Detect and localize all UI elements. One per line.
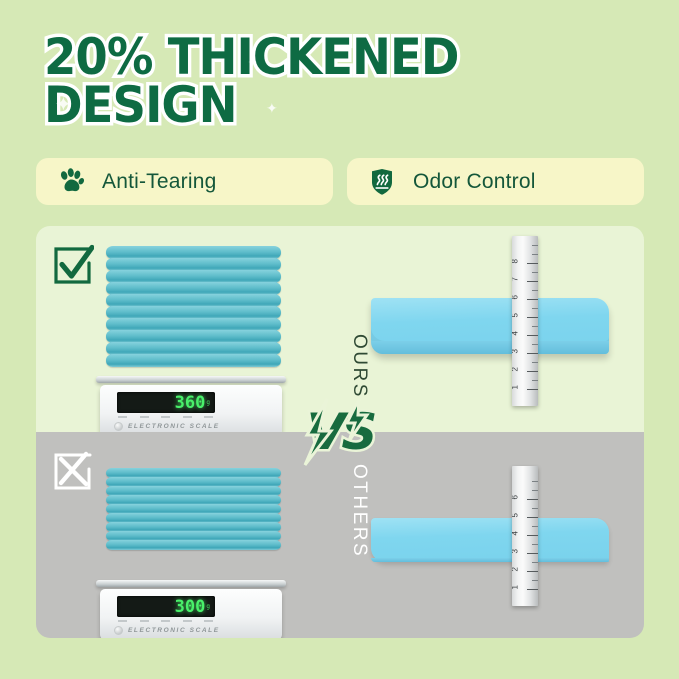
- badge-label: Odor Control: [413, 170, 536, 194]
- pad-stack-others: [106, 468, 281, 549]
- scale-unit: g: [206, 604, 210, 610]
- pad-sample-ours: 1 2 3 4 5 6 7 8: [371, 298, 609, 354]
- pad-layer: [106, 540, 281, 550]
- scale-platform: [96, 580, 286, 587]
- scale-brand-label: ELECTRONIC SCALE: [128, 423, 220, 430]
- pad-edge: [371, 558, 609, 562]
- pad-thin: [371, 518, 609, 562]
- badge-label: Anti-Tearing: [102, 170, 216, 194]
- scale-platform: [96, 376, 286, 383]
- scale-brand-label: ELECTRONIC SCALE: [128, 627, 220, 634]
- odor-shield-icon: [369, 168, 395, 196]
- scale-others: 300 g ELECTRONIC SCALE: [100, 580, 282, 638]
- cross-mark-icon: [52, 450, 94, 492]
- comparison-section: 360 g ELECTRONIC SCALE OURS 1 2 3 4: [36, 226, 644, 638]
- scale-body: 360 g ELECTRONIC SCALE: [100, 385, 282, 437]
- badge-anti-tearing: Anti-Tearing: [36, 158, 333, 205]
- ruler-others: 1 2 3 4 5 6: [512, 466, 538, 606]
- pad-stack-ours: [106, 246, 281, 366]
- power-knob-icon: [114, 422, 123, 431]
- scale-ours: 360 g ELECTRONIC SCALE: [100, 376, 282, 437]
- power-knob-icon: [114, 626, 123, 635]
- scale-value: 300: [175, 597, 206, 617]
- vs-badge: VS: [297, 397, 383, 467]
- scale-value: 360: [175, 393, 206, 413]
- side-label-ours: OURS: [348, 334, 370, 399]
- scale-buttons: [118, 416, 213, 418]
- pad-thick: [371, 298, 609, 354]
- feature-badges: Anti-Tearing Odor Control: [36, 158, 644, 205]
- pad-layer: [106, 354, 281, 367]
- side-label-others: OTHERS: [348, 464, 370, 558]
- header: 20% THICKENED DESIGN: [0, 0, 679, 129]
- scale-display: 300 g: [117, 596, 215, 617]
- checkmark-icon: [52, 244, 94, 286]
- scale-body: 300 g ELECTRONIC SCALE: [100, 589, 282, 638]
- pad-sample-others: 1 2 3 4 5 6: [371, 518, 609, 562]
- lightning-bolt-icon: [297, 397, 383, 467]
- paw-print-icon: [58, 168, 84, 196]
- page-title: 20% THICKENED DESIGN: [44, 34, 635, 129]
- scale-display: 360 g: [117, 392, 215, 413]
- scale-unit: g: [206, 400, 210, 406]
- badge-odor-control: Odor Control: [347, 158, 644, 205]
- pad-edge: [371, 341, 609, 354]
- ruler-ours: 1 2 3 4 5 6 7 8: [512, 236, 538, 406]
- scale-buttons: [118, 620, 213, 622]
